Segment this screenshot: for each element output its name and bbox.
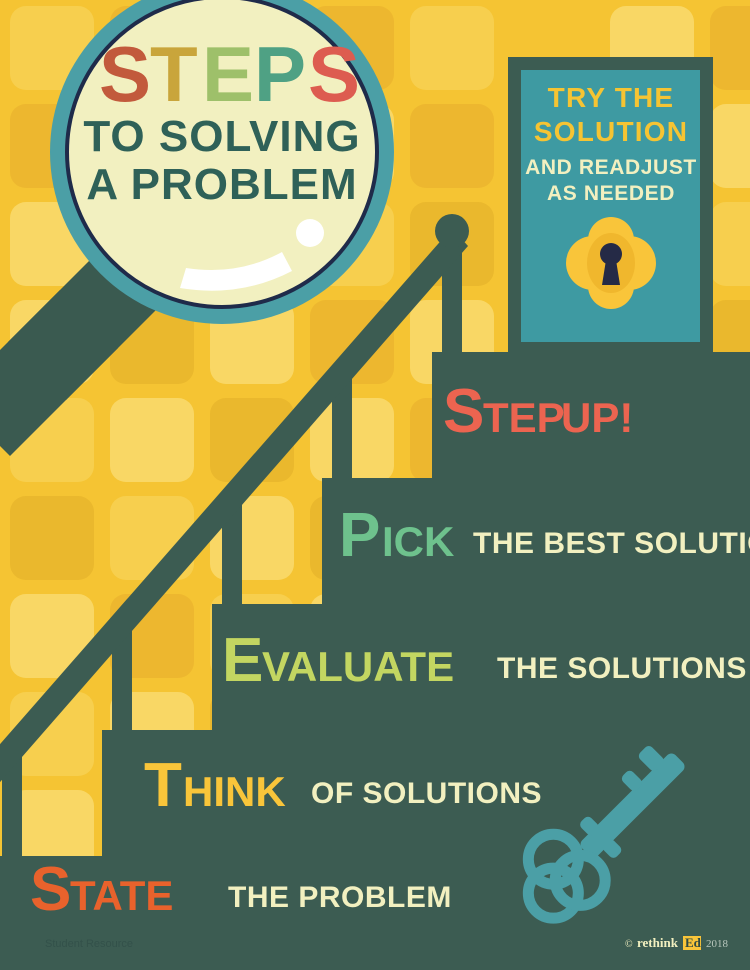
step-3-rest: VALUATE [262,643,454,690]
title-letter-2: T [150,30,200,118]
step-1-tail: UP! [561,394,633,441]
header-title-group: S T E P S TO SOLVING A PROBLEM [83,30,362,209]
door-heading-line1: TRY THE [548,82,675,113]
door-text-group: TRY THE SOLUTION AND READJUST AS NEEDED [525,82,697,205]
title-letter-4: P [254,30,308,118]
newel-post-ball [435,214,469,248]
step-4-rest: HINK [183,768,286,815]
poster-artwork: S T E P S TO SOLVING A PROBLEM TRY THE S… [0,0,750,970]
footer-brand-accent: Ed [685,935,702,950]
step-2-rest: ICK [382,518,454,565]
door-heading-line2: SOLUTION [534,116,688,147]
footer-brand-primary: rethink [637,935,679,950]
step-3-cap: E [222,626,263,695]
title-letter-3: E [202,30,256,118]
step-2-tail: THE BEST SOLUTION [473,527,750,560]
door-subheading-line2: AS NEEDED [547,182,675,205]
header-subtitle-line1: TO SOLVING [83,112,360,161]
step-3-tail: THE SOLUTIONS [497,652,747,685]
footer-copyright-symbol: © [625,939,633,950]
step-2-cap: P [339,501,380,570]
footer-left-text: Student Resource [45,938,133,950]
poster-canvas: S T E P S TO SOLVING A PROBLEM TRY THE S… [0,0,750,970]
step-4-cap: T [144,751,182,820]
door-subheading-line1: AND READJUST [525,156,697,179]
footer-year: 2018 [706,938,729,950]
step-4-tail: OF SOLUTIONS [311,777,542,810]
step-5-rest: TATE [70,872,173,919]
step-1-cap: S [443,377,484,446]
step-1-rest: TEP [483,394,565,441]
title-letter-1: S [99,30,153,118]
step-5-cap: S [30,855,71,924]
header-subtitle-line2: A PROBLEM [86,160,357,209]
step-5-tail: THE PROBLEM [228,881,452,914]
title-letter-5: S [308,30,362,118]
